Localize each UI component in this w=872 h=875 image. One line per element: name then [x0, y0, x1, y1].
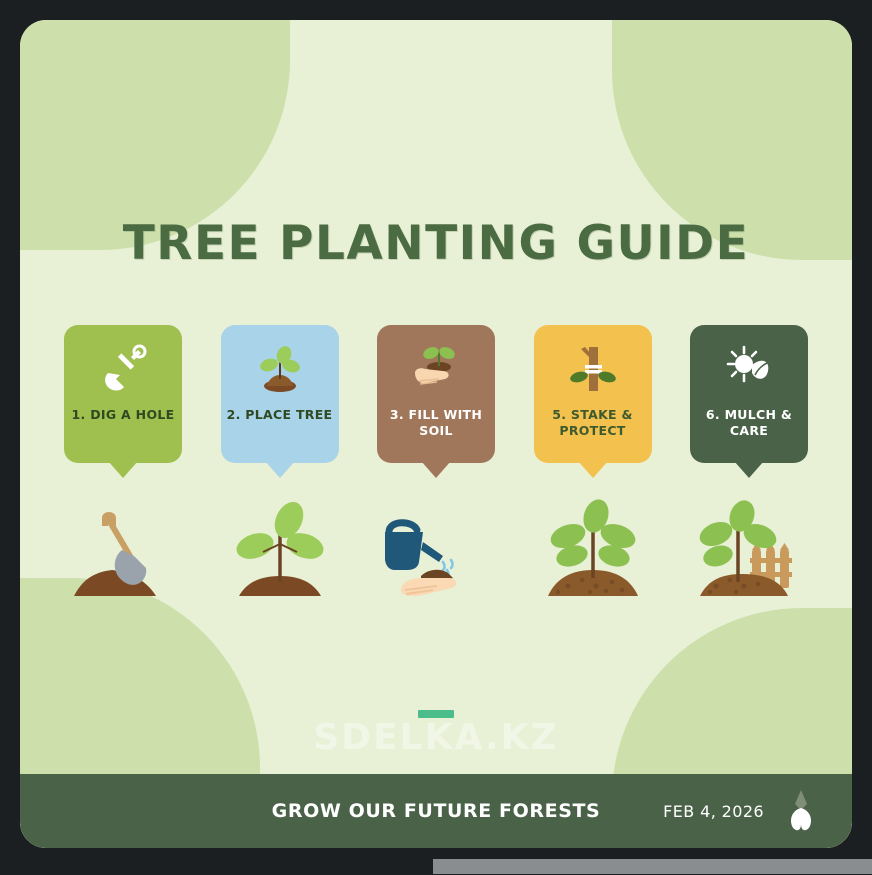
card-pointer-tail [265, 461, 295, 478]
step-card-2[interactable]: 2. PLACE TREE [221, 325, 339, 463]
step-card-body[interactable]: 6. MULCH & CARE [690, 325, 808, 463]
tree-with-fence-illustration [690, 498, 808, 603]
sun-and-leaf-icon [722, 341, 776, 395]
illustrations-row [64, 498, 808, 603]
card-pointer-tail [108, 461, 138, 478]
card-pointer-tail [421, 461, 451, 478]
shovel-in-dirt-mound-illustration [64, 498, 182, 603]
step-card-1[interactable]: 1. DIG A HOLE [64, 325, 182, 463]
infographic-poster: TREE PLANTING GUIDE 1. DIG A HOLE [20, 20, 852, 848]
footer-bar: GROW OUR FUTURE FORESTS FEB 4, 2026 [20, 774, 852, 848]
step-card-label: 2. PLACE TREE [227, 407, 333, 423]
young-sapling-in-soil-illustration [221, 498, 339, 603]
step-card-3[interactable]: 3. FILL WITH SOIL [377, 325, 495, 463]
watering-can-and-hand-illustration [377, 498, 495, 603]
staked-tree-icon [566, 341, 620, 395]
step-cards-row: 1. DIG A HOLE 2. PLACE TREE [64, 325, 808, 463]
card-pointer-tail [578, 461, 608, 478]
young-tree-in-mound-illustration [534, 498, 652, 603]
footer-date: FEB 4, 2026 [663, 802, 764, 821]
watermark-text: SDELKA.KZ [20, 717, 852, 758]
step-card-label: 1. DIG A HOLE [72, 407, 175, 423]
step-card-label: 3. FILL WITH SOIL [383, 407, 489, 438]
card-pointer-tail [734, 461, 764, 478]
horizontal-scrollbar-thumb[interactable] [433, 859, 872, 874]
sapling-in-soil-icon [253, 341, 307, 395]
step-card-body[interactable]: 1. DIG A HOLE [64, 325, 182, 463]
hand-holding-seedling-icon [409, 341, 463, 395]
leaf-logo-icon [780, 788, 822, 834]
step-card-label: 6. MULCH & CARE [696, 407, 802, 438]
step-card-4[interactable]: 5. STAKE & PROTECT [534, 325, 652, 463]
step-card-body[interactable]: 3. FILL WITH SOIL [377, 325, 495, 463]
page-title: TREE PLANTING GUIDE [20, 216, 852, 271]
step-card-body[interactable]: 5. STAKE & PROTECT [534, 325, 652, 463]
horizontal-scrollbar-track[interactable] [0, 857, 872, 875]
step-card-5[interactable]: 6. MULCH & CARE [690, 325, 808, 463]
step-card-body[interactable]: 2. PLACE TREE [221, 325, 339, 463]
step-card-label: 5. STAKE & PROTECT [540, 407, 646, 438]
shovel-icon [96, 341, 150, 395]
